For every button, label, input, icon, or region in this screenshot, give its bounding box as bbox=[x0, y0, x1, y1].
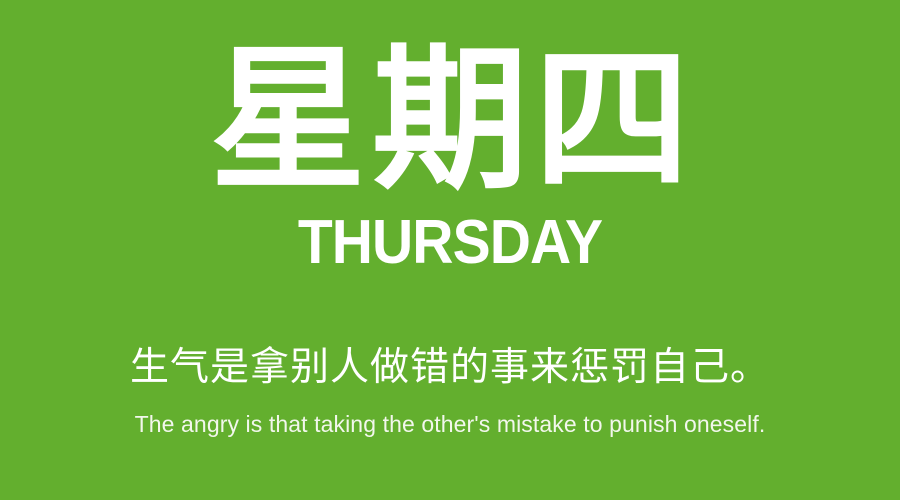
day-of-week-english: THURSDAY bbox=[36, 214, 864, 272]
quote-block: 生气是拿别人做错的事来惩罚自己。 The angry is that takin… bbox=[0, 344, 900, 439]
day-heading-block: 星期四 THURSDAY bbox=[0, 40, 900, 272]
quote-text-chinese: 生气是拿别人做错的事来惩罚自己。 bbox=[0, 344, 900, 392]
quote-text-english: The angry is that taking the other's mis… bbox=[0, 409, 900, 439]
day-of-week-chinese: 星期四 bbox=[0, 40, 900, 200]
daily-quote-card: 星期四 THURSDAY 生气是拿别人做错的事来惩罚自己。 The angry … bbox=[0, 0, 900, 500]
